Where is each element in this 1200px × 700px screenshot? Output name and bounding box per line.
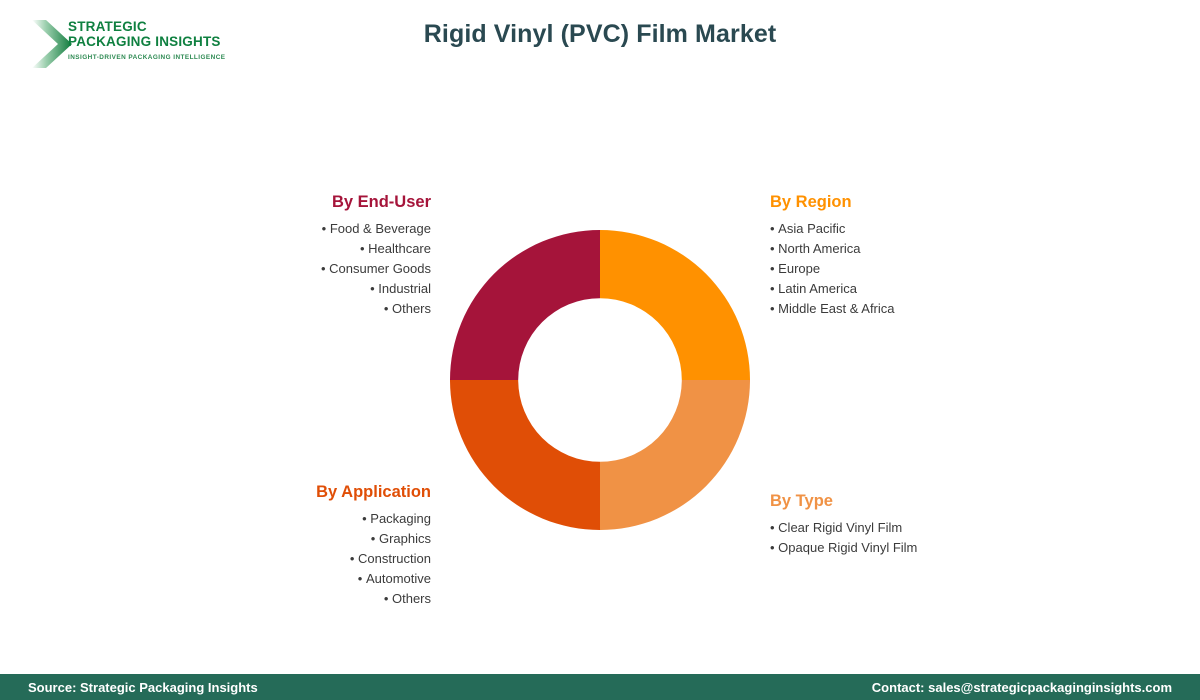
segment-type: By Type • Clear Rigid Vinyl Film • Opaqu… — [770, 492, 1070, 558]
bullet-icon: • — [371, 531, 379, 546]
bullet-icon: • — [770, 281, 778, 296]
list-item: • Food & Beverage — [180, 219, 431, 239]
footer-source: Source: Strategic Packaging Insights — [28, 680, 258, 695]
donut-slice-region[interactable] — [600, 230, 750, 380]
list-item-label: Middle East & Africa — [778, 301, 894, 316]
segment-application-list: • Packaging • Graphics • Construction • … — [180, 509, 431, 609]
page-title: Rigid Vinyl (PVC) Film Market — [0, 20, 1200, 49]
bullet-icon: • — [358, 571, 366, 586]
segment-end-user-list: • Food & Beverage • Healthcare • Consume… — [180, 219, 431, 319]
bullet-icon: • — [770, 301, 778, 316]
bullet-icon: • — [770, 261, 778, 276]
list-item: • Clear Rigid Vinyl Film — [770, 518, 1070, 538]
list-item-label: Clear Rigid Vinyl Film — [778, 520, 902, 535]
list-item-label: Europe — [778, 261, 820, 276]
segment-region: By Region • Asia Pacific • North America… — [770, 193, 1070, 319]
bullet-icon: • — [770, 540, 778, 555]
list-item: • Packaging — [180, 509, 431, 529]
bullet-icon: • — [770, 221, 778, 236]
segment-type-list: • Clear Rigid Vinyl Film • Opaque Rigid … — [770, 518, 1070, 558]
segment-type-title: By Type — [770, 492, 1070, 511]
list-item: • Construction — [180, 549, 431, 569]
bullet-icon: • — [384, 591, 392, 606]
bullet-icon: • — [770, 241, 778, 256]
list-item: • Others — [180, 299, 431, 319]
bullet-icon: • — [321, 261, 329, 276]
footer-contact: Contact: sales@strategicpackaginginsight… — [872, 680, 1172, 695]
list-item: • Automotive — [180, 569, 431, 589]
segment-end-user-title: By End-User — [180, 193, 431, 212]
bullet-icon: • — [322, 221, 330, 236]
list-item-label: Asia Pacific — [778, 221, 845, 236]
list-item: • Middle East & Africa — [770, 299, 1070, 319]
list-item-label: Healthcare — [368, 241, 431, 256]
segment-end-user: By End-User • Food & Beverage • Healthca… — [180, 193, 431, 319]
list-item: • Asia Pacific — [770, 219, 1070, 239]
segment-application-title: By Application — [180, 483, 431, 502]
donut-chart — [450, 230, 750, 530]
bullet-icon: • — [350, 551, 358, 566]
segment-application: By Application • Packaging • Graphics • … — [180, 483, 431, 609]
donut-slice-end-user[interactable] — [450, 230, 600, 380]
logo-tagline: INSIGHT-DRIVEN PACKAGING INTELLIGENCE — [68, 54, 248, 62]
list-item: • Opaque Rigid Vinyl Film — [770, 538, 1070, 558]
list-item: • Europe — [770, 259, 1070, 279]
list-item: • Latin America — [770, 279, 1070, 299]
list-item: • Others — [180, 589, 431, 609]
list-item: • North America — [770, 239, 1070, 259]
donut-slice-application[interactable] — [450, 380, 600, 530]
list-item-label: Automotive — [366, 571, 431, 586]
list-item-label: Construction — [358, 551, 431, 566]
list-item: • Consumer Goods — [180, 259, 431, 279]
list-item-label: Latin America — [778, 281, 857, 296]
list-item-label: Graphics — [379, 531, 431, 546]
segment-region-title: By Region — [770, 193, 1070, 212]
bullet-icon: • — [384, 301, 392, 316]
list-item-label: Others — [392, 591, 431, 606]
list-item-label: Packaging — [370, 511, 431, 526]
list-item-label: Consumer Goods — [329, 261, 431, 276]
segment-region-list: • Asia Pacific • North America • Europe … — [770, 219, 1070, 319]
bullet-icon: • — [360, 241, 368, 256]
list-item: • Healthcare — [180, 239, 431, 259]
list-item: • Industrial — [180, 279, 431, 299]
footer-bar: Source: Strategic Packaging Insights Con… — [0, 674, 1200, 700]
list-item-label: North America — [778, 241, 860, 256]
list-item-label: Industrial — [378, 281, 431, 296]
donut-slice-type[interactable] — [600, 380, 750, 530]
list-item-label: Others — [392, 301, 431, 316]
list-item-label: Opaque Rigid Vinyl Film — [778, 540, 917, 555]
list-item-label: Food & Beverage — [330, 221, 431, 236]
list-item: • Graphics — [180, 529, 431, 549]
bullet-icon: • — [770, 520, 778, 535]
